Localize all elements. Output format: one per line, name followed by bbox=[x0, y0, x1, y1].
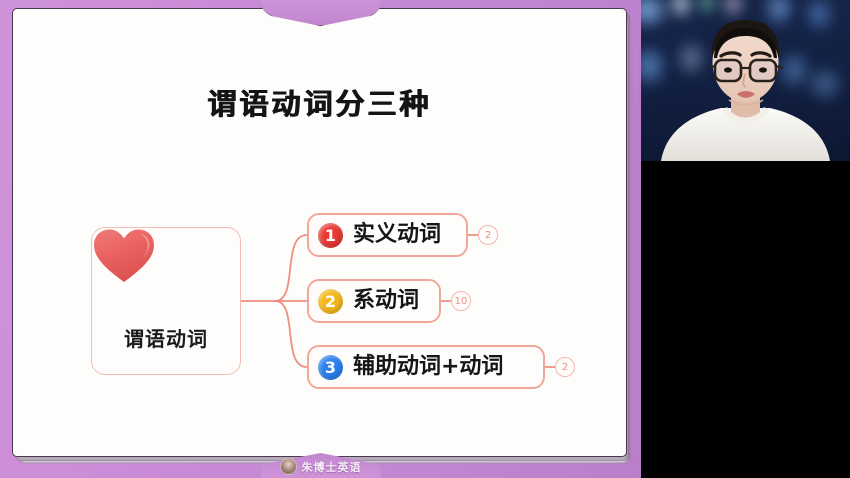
webcam-video[interactable] bbox=[641, 0, 850, 161]
mindmap-root-node[interactable]: 谓语动词 bbox=[91, 227, 241, 375]
watermark-label: 朱博士英语 bbox=[302, 459, 362, 475]
book-page: 谓语动词分三种 bbox=[12, 8, 627, 457]
avatar-icon bbox=[280, 458, 297, 475]
slide-presentation-area: 谓语动词分三种 bbox=[0, 0, 641, 478]
screen-root: 谓语动词分三种 bbox=[0, 0, 850, 478]
webcam-panel[interactable] bbox=[641, 0, 850, 478]
branch-number-3-icon: 3 bbox=[318, 355, 343, 380]
branch-2-count-badge: 10 bbox=[451, 291, 471, 311]
branch-number-1-icon: 1 bbox=[318, 223, 343, 248]
mindmap-branch-3[interactable]: 3 辅助动词+动词 bbox=[307, 345, 545, 389]
branch-3-count-badge: 2 bbox=[555, 357, 575, 377]
mindmap-branch-2-label: 系动词 bbox=[353, 290, 419, 312]
webcam-letterbox bbox=[641, 161, 850, 478]
mindmap-branch-1[interactable]: 1 实义动词 bbox=[307, 213, 468, 257]
mindmap-branch-2[interactable]: 2 系动词 bbox=[307, 279, 441, 323]
mindmap-branch-1-label: 实义动词 bbox=[353, 224, 441, 246]
branch-1-count-badge: 2 bbox=[478, 225, 498, 245]
webcam-person bbox=[641, 0, 850, 161]
heart-icon bbox=[134, 253, 198, 309]
mindmap-canvas: 谓语动词 1 实义动词 2 2 系动词 10 3 辅助动词+动词 bbox=[13, 9, 626, 456]
watermark: 朱博士英语 bbox=[280, 458, 362, 475]
branch-number-2-icon: 2 bbox=[318, 289, 343, 314]
mindmap-branch-3-label: 辅助动词+动词 bbox=[353, 356, 503, 378]
mindmap-root-label: 谓语动词 bbox=[124, 323, 208, 352]
